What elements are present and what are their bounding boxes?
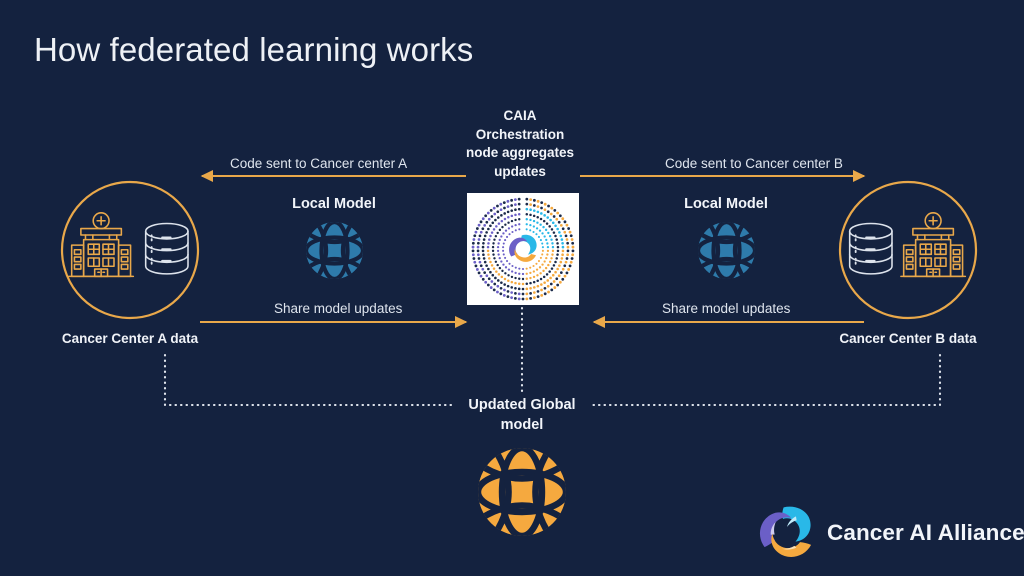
globe-network-icon xyxy=(300,216,369,285)
caia-logo-icon xyxy=(467,193,579,305)
database-icon xyxy=(146,223,188,273)
right-node-label: Cancer Center B data xyxy=(808,330,1008,348)
center-node-label-line-2: Orchestration xyxy=(445,126,595,145)
dotted-connector-right xyxy=(590,355,940,405)
cancer-ai-alliance-logo-icon xyxy=(758,505,816,561)
flow-label-bottom-right: Share model updates xyxy=(662,300,790,318)
globe-network-icon xyxy=(692,216,761,285)
flow-label-bottom-left: Share model updates xyxy=(274,300,402,318)
database-icon xyxy=(850,223,892,273)
caia-orchestration-card xyxy=(467,193,579,305)
flow-label-top-left: Code sent to Cancer center A xyxy=(230,155,407,173)
local-model-label-right: Local Model xyxy=(678,195,774,214)
flow-label-top-right: Code sent to Cancer center B xyxy=(665,155,843,173)
center-node-label-line-3: node aggregates xyxy=(445,144,595,163)
center-node-label-line-4: updates xyxy=(445,163,595,182)
globe-network-icon xyxy=(469,439,575,545)
dotted-connector-left xyxy=(165,355,452,405)
brand-logo: Cancer AI Alliance xyxy=(758,505,1024,561)
global-model-label-line-1: Updated Global xyxy=(437,395,607,415)
local-model-label-left: Local Model xyxy=(286,195,382,214)
center-node-label: CAIA Orchestration node aggregates updat… xyxy=(445,107,595,182)
brand-name: Cancer AI Alliance xyxy=(827,520,1024,546)
hospital-icon xyxy=(69,213,133,277)
hospital-icon xyxy=(901,213,965,277)
left-node-label: Cancer Center A data xyxy=(30,330,230,348)
global-model-label-line-2: model xyxy=(437,415,607,435)
slide-canvas: How federated learning works xyxy=(0,0,1024,576)
global-model-label: Updated Global model xyxy=(437,395,607,436)
center-node-label-line-1: CAIA xyxy=(445,107,595,126)
